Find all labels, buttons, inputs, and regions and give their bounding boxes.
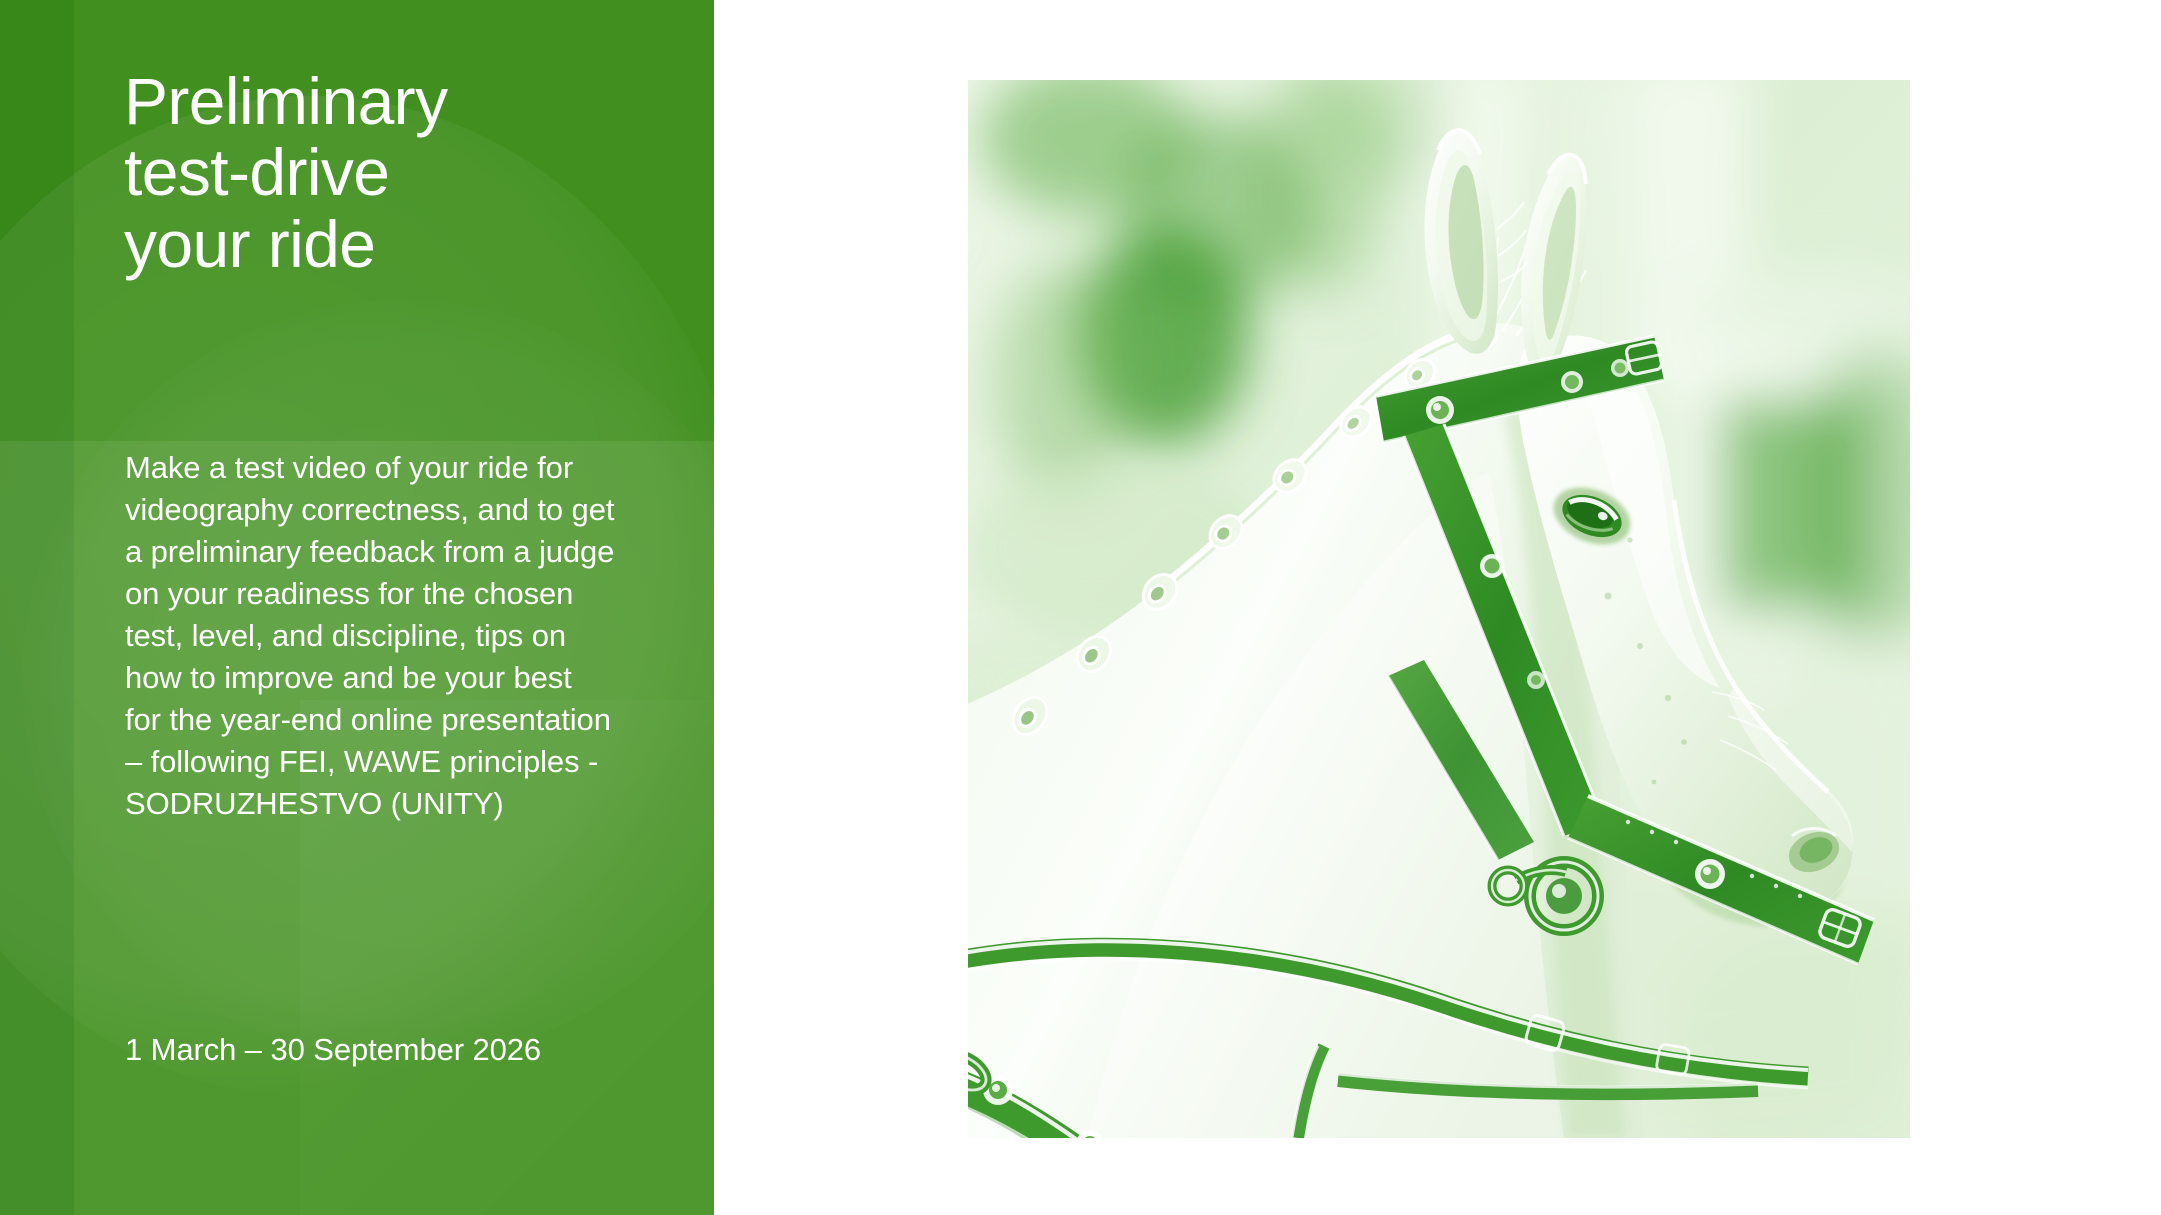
slide-date-range: 1 March – 30 September 2026: [125, 1029, 595, 1071]
slide-title: Preliminary test-drive your ride: [124, 66, 594, 280]
horse-photo: [968, 80, 1910, 1138]
panel-text-content: Preliminary test-drive your ride Make a …: [124, 0, 624, 1215]
slide-body-paragraph: Make a test video of your ride for video…: [125, 447, 615, 825]
slide-root: Preliminary test-drive your ride Make a …: [0, 0, 2161, 1215]
horse-photo-illustration: [968, 80, 1910, 1138]
